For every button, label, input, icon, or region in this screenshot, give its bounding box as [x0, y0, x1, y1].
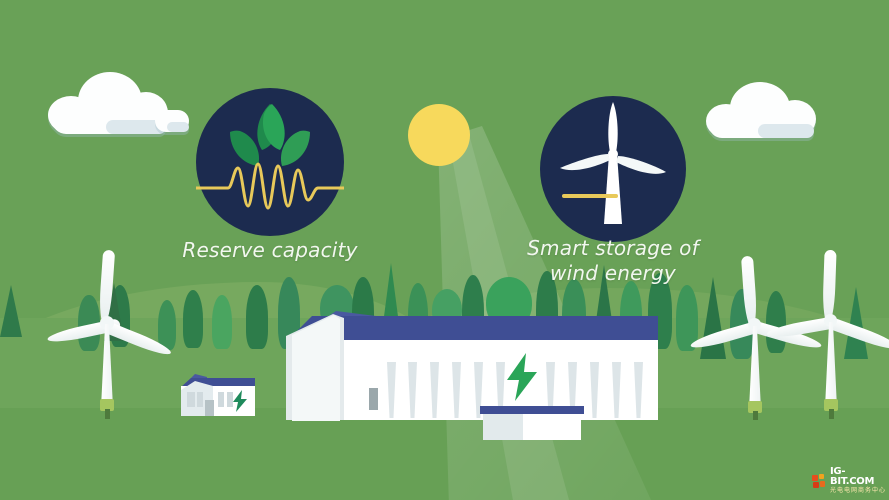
reserve-capacity-caption: Reserve capacity: [170, 238, 370, 263]
wind-turbine-icon: [540, 96, 686, 242]
house-window: [187, 392, 195, 407]
ig-bit-logo-icon: [812, 474, 827, 489]
reserve-capacity-icon[interactable]: [196, 88, 344, 236]
house-window: [218, 392, 224, 407]
waveform-icon: [196, 148, 344, 218]
lightning-bolt-icon: [232, 390, 248, 412]
smart-storage-caption: Smart storage of wind energy: [513, 236, 713, 286]
watermark-sub-text: 光电电网商务中心: [830, 487, 886, 495]
house-window: [197, 392, 203, 407]
illustration-canvas: Reserve capacity Smart storage of wind e…: [0, 0, 889, 500]
watermark-main-text: IG-BIT.COM: [830, 467, 886, 487]
smart-storage-icon[interactable]: [540, 96, 686, 242]
house-door: [205, 400, 214, 416]
small-house: [0, 0, 889, 500]
watermark: IG-BIT.COM 光电电网商务中心: [812, 470, 886, 492]
